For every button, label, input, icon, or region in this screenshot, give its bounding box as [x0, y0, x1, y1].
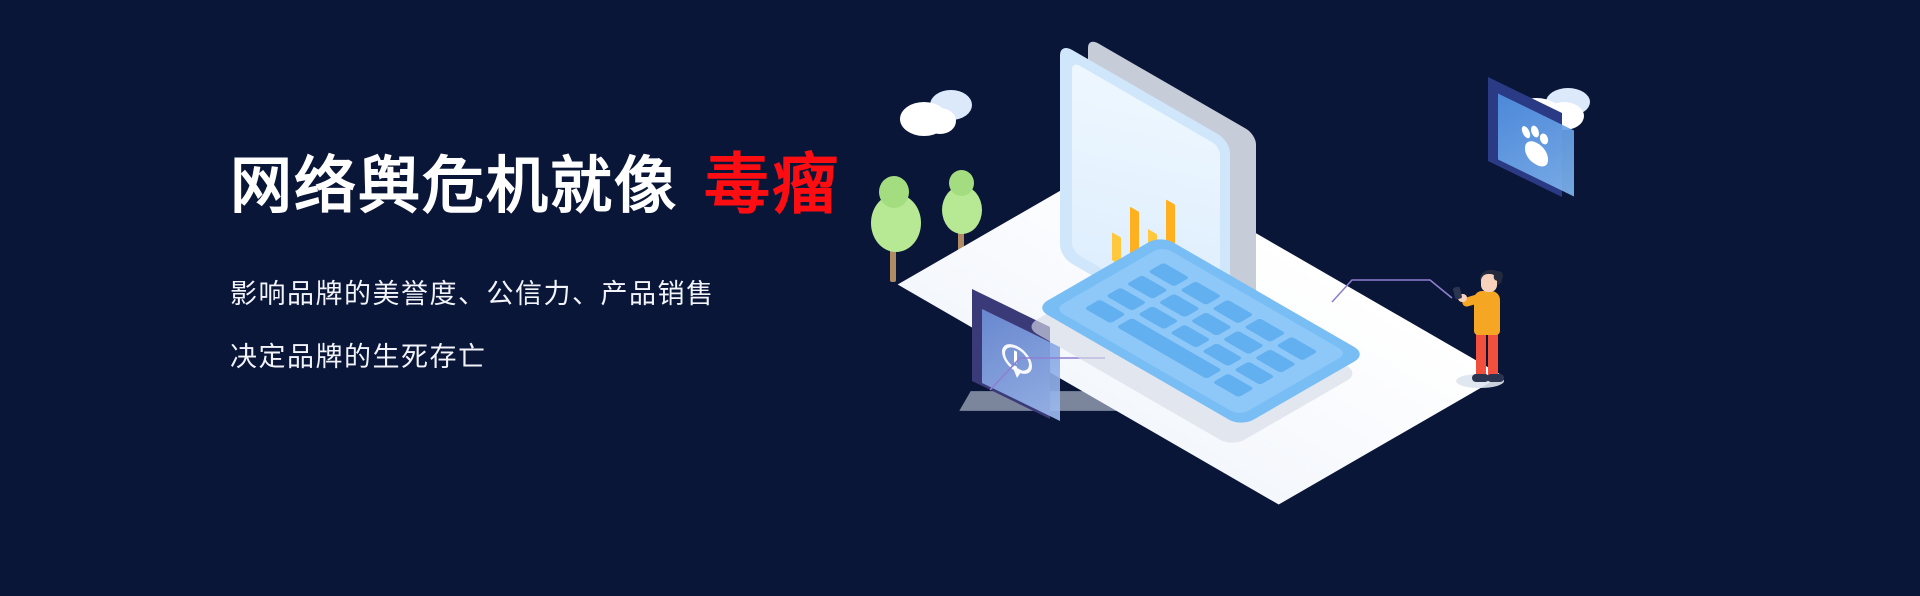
- subtitle-line-1: 影响品牌的美誉度、公信力、产品销售: [230, 281, 1010, 308]
- illustration: [1020, 60, 1580, 480]
- cloud-icon-left: [900, 90, 980, 140]
- headline-main-text: 网络舆危机就像: [230, 154, 678, 219]
- subtitle-line-2: 决定品牌的生死存亡: [230, 344, 1010, 371]
- person-with-phone: [1450, 270, 1520, 400]
- tree-icon-left: [865, 170, 925, 280]
- headline-accent-text: 毒瘤: [704, 150, 840, 219]
- subtitle-block: 影响品牌的美誉度、公信力、产品销售 决定品牌的生死存亡: [230, 281, 1010, 371]
- hero-banner: 网络舆危机就像 毒瘤 影响品牌的美誉度、公信力、产品销售 决定品牌的生死存亡: [0, 0, 1920, 596]
- phone-icon: [1453, 286, 1463, 299]
